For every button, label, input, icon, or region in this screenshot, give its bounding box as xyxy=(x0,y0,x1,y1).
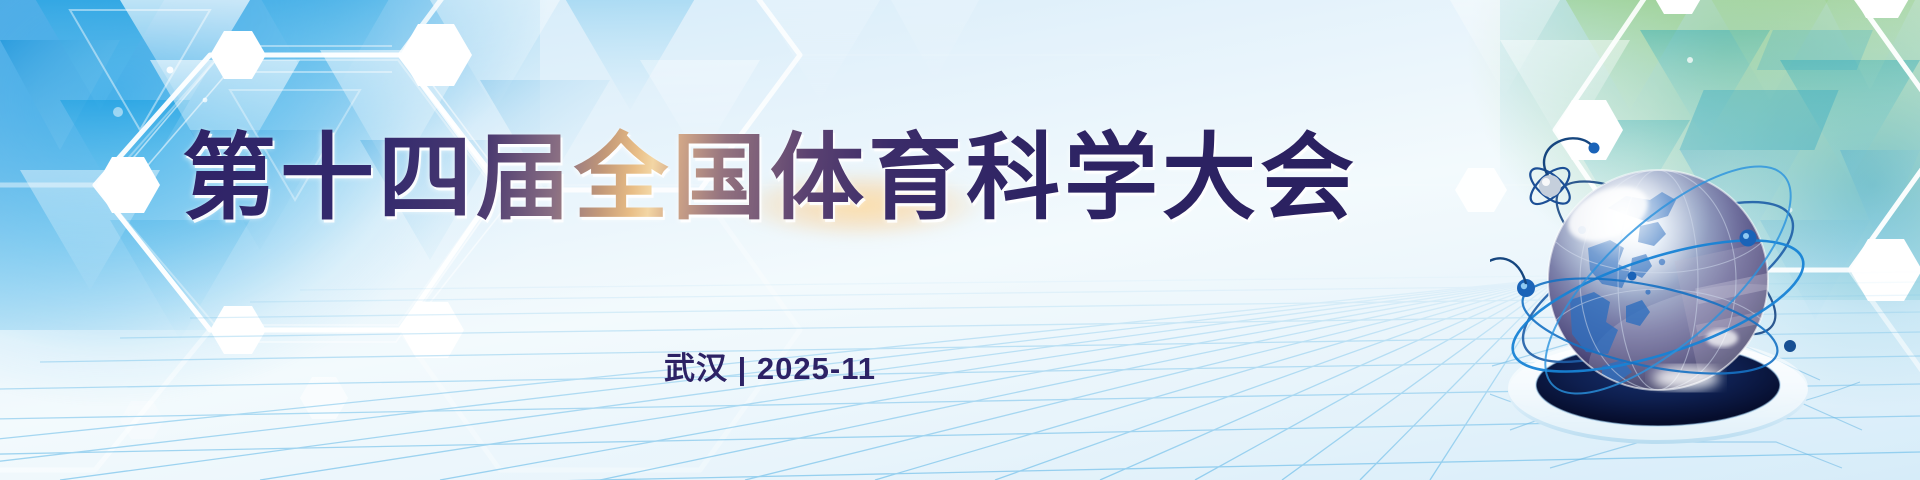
banner-subtitle: 武汉 | 2025-11 xyxy=(0,343,1540,388)
page-title-wrap: 第十四届全国体育科学大会 xyxy=(0,128,1540,228)
globe-illustration xyxy=(1490,130,1920,480)
page-title: 第十四届全国体育科学大会 xyxy=(182,128,1358,228)
conference-banner: 第十四届全国体育科学大会 第十四届全国体育科学大会 武汉 | 2025-11 xyxy=(0,0,1920,480)
